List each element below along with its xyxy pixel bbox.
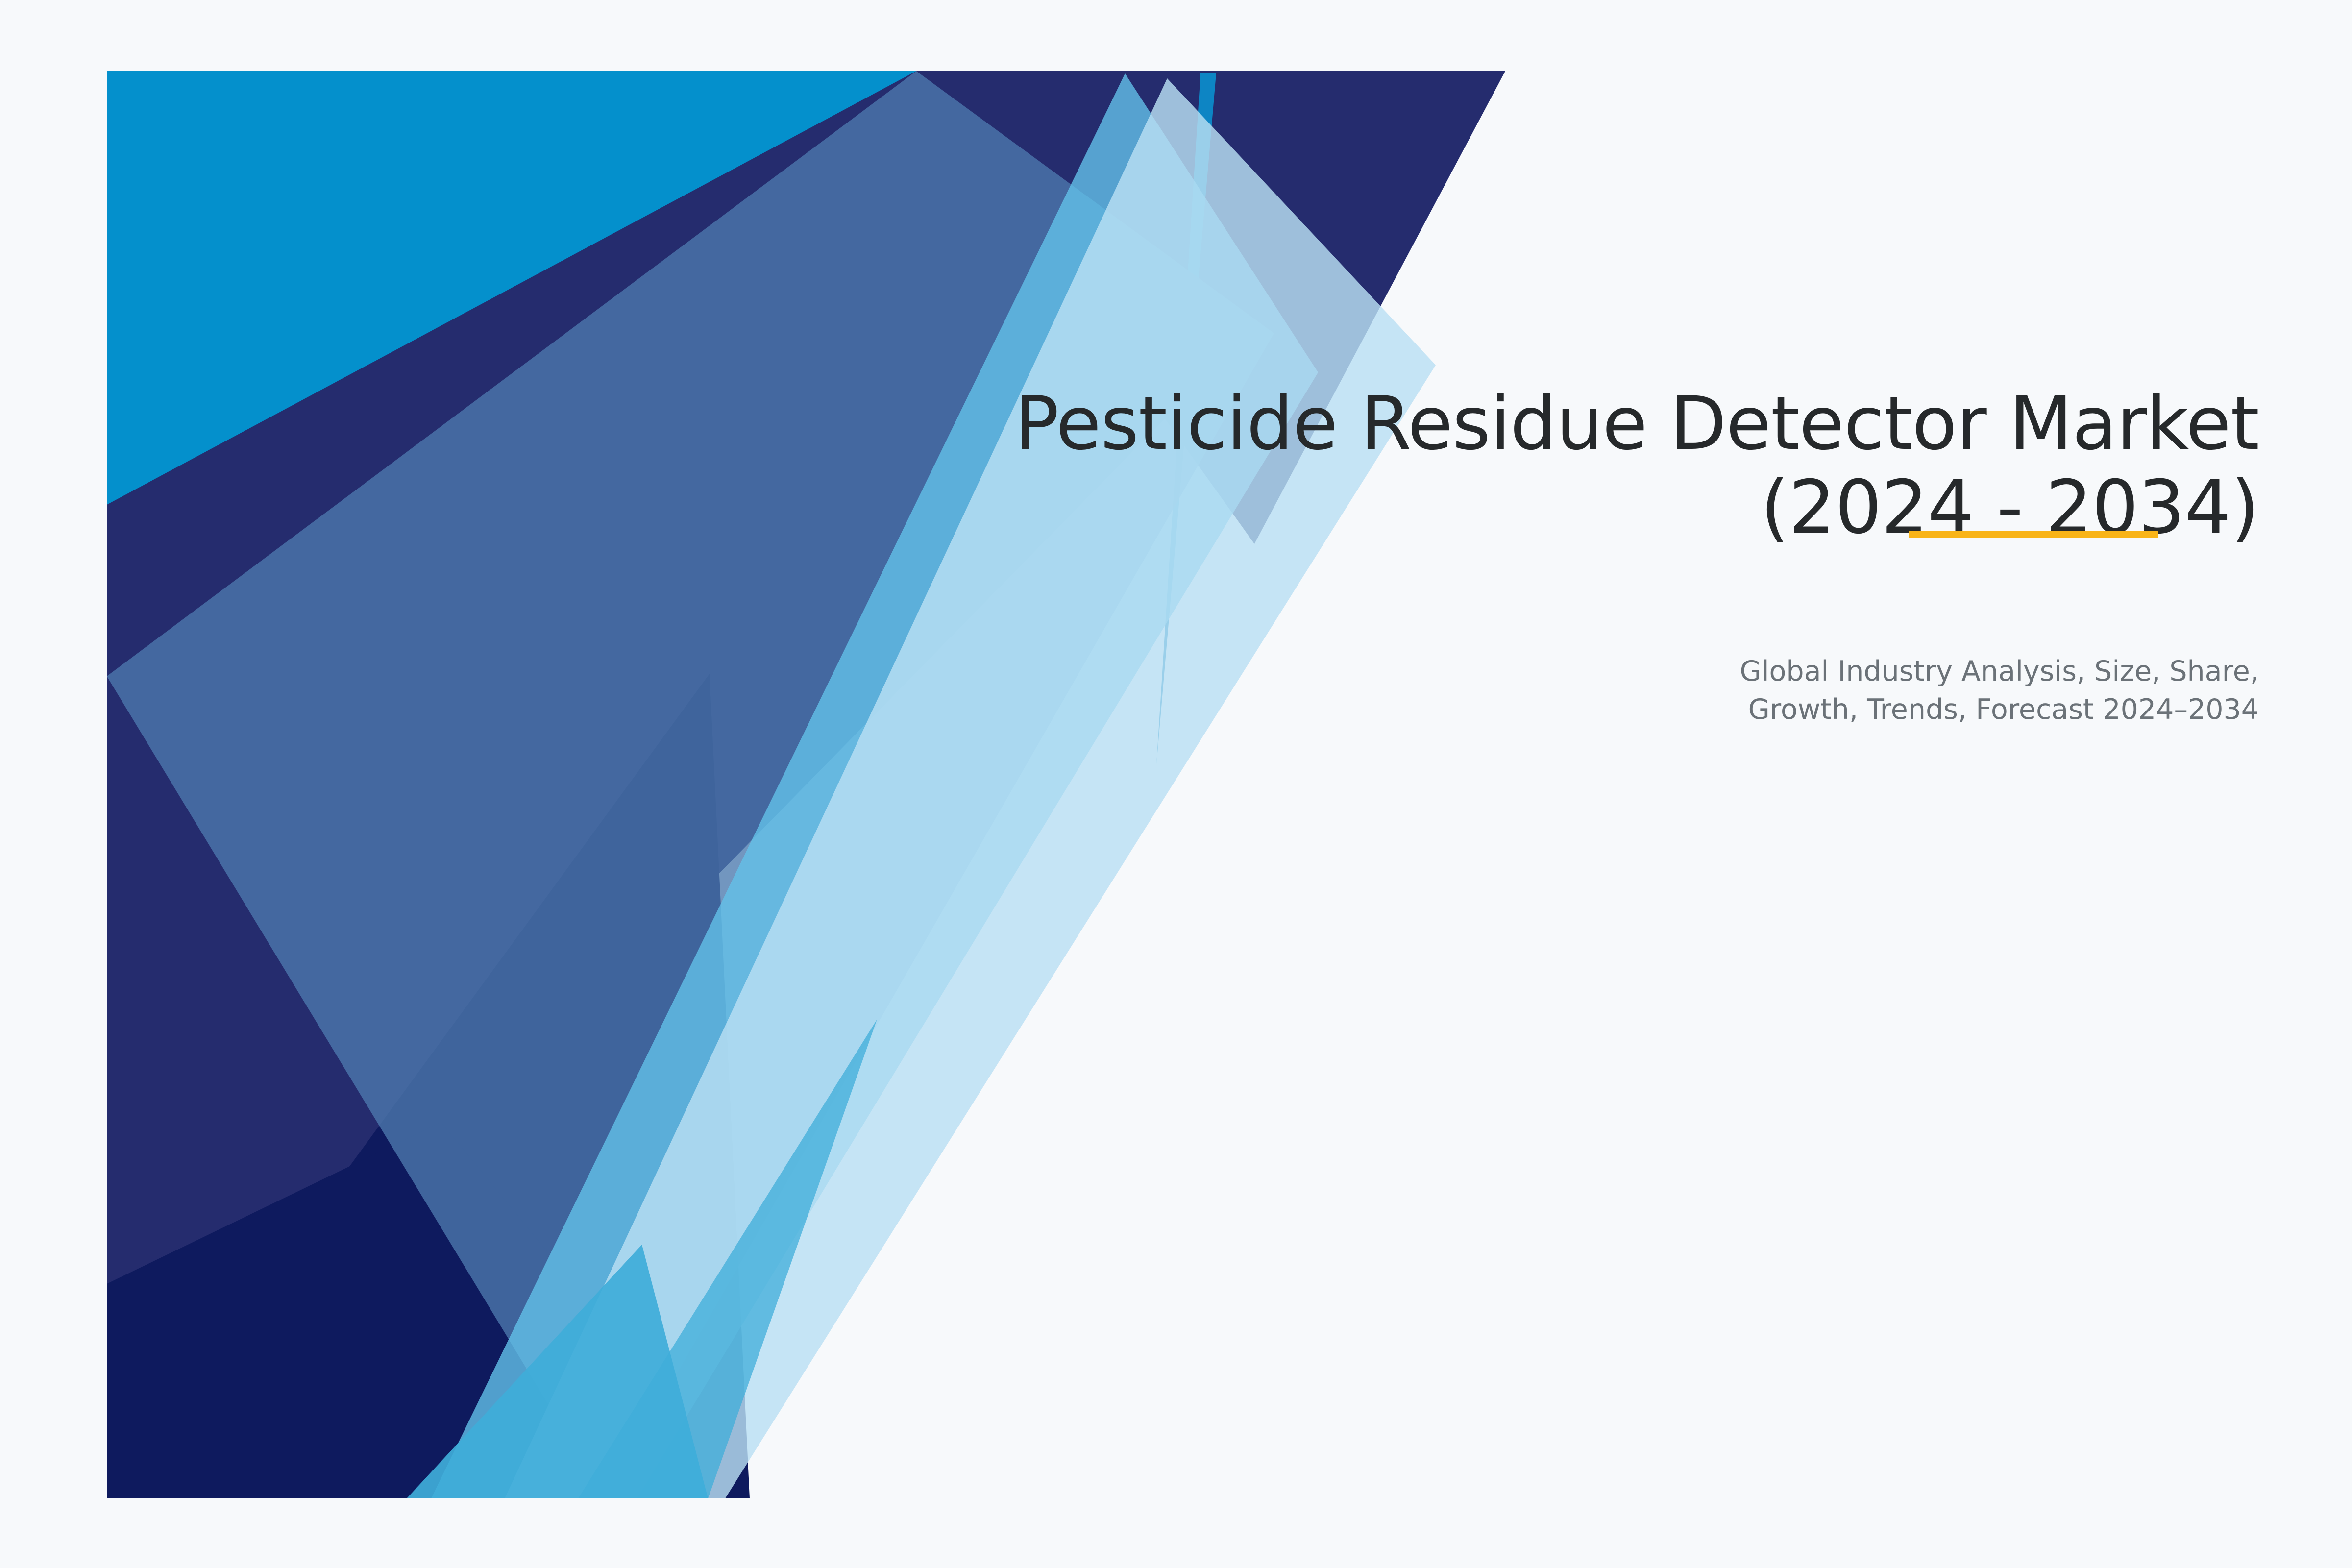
page-title: Pesticide Residue Detector Market (2024 … bbox=[838, 382, 2259, 550]
report-cover-page: Pesticide Residue Detector Market (2024 … bbox=[0, 0, 2352, 1568]
page-subtitle: Global Industry Analysis, Size, Share, G… bbox=[1475, 653, 2259, 729]
title-block: Pesticide Residue Detector Market (2024 … bbox=[838, 382, 2259, 550]
abstract-polygon-artwork bbox=[0, 0, 2352, 1568]
title-accent-underline bbox=[1909, 531, 2158, 538]
